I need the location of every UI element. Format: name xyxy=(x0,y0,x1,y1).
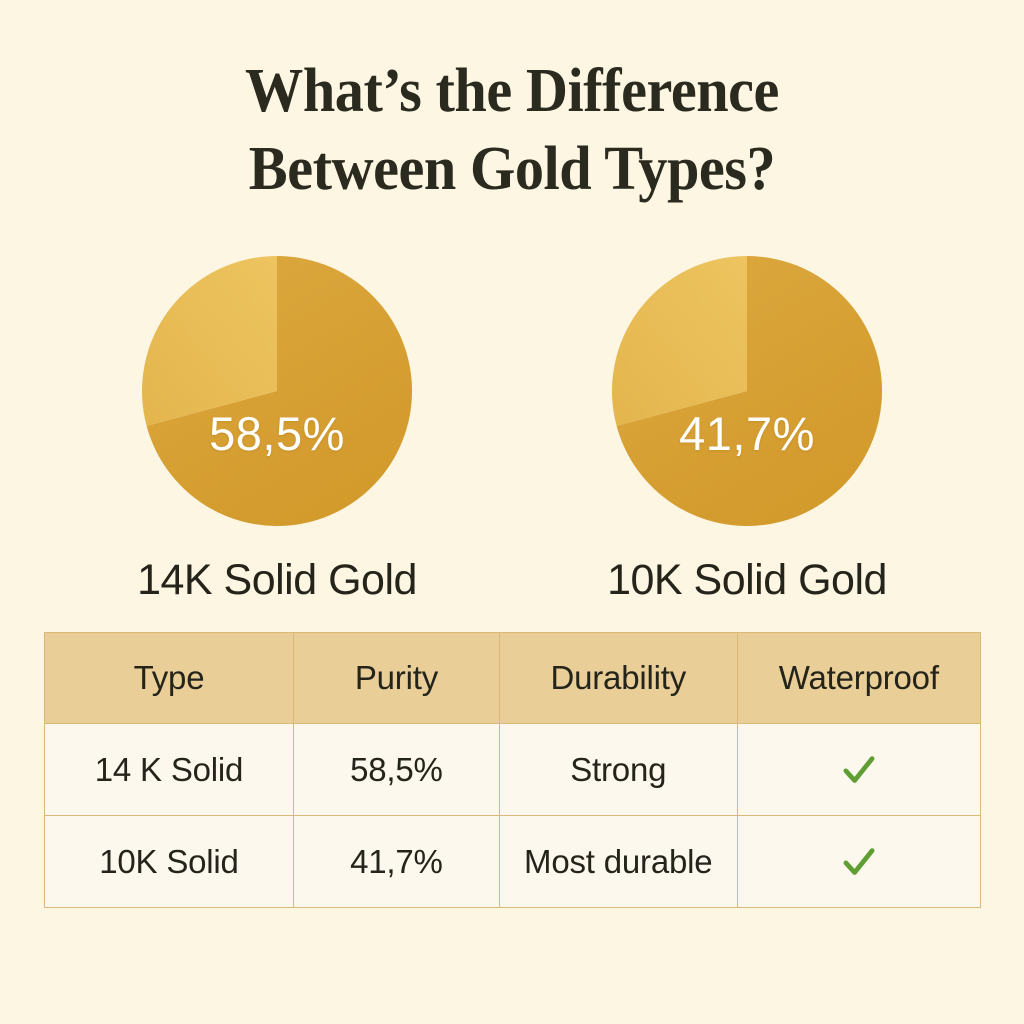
table-row: 10K Solid 41,7% Most durable xyxy=(45,816,981,908)
cell-type: 14 K Solid xyxy=(45,724,294,816)
table-body: 14 K Solid 58,5% Strong 10K Solid 41,7% … xyxy=(45,724,981,908)
pie-chart-14k: 58,5% xyxy=(136,250,418,532)
cell-waterproof xyxy=(737,724,980,816)
cell-purity: 58,5% xyxy=(293,724,499,816)
pie-chart-icon xyxy=(606,250,888,532)
column-header-waterproof: Waterproof xyxy=(737,633,980,724)
title-line-2: Between Gold Types? xyxy=(106,130,918,208)
infographic-page: What’s the Difference Between Gold Types… xyxy=(0,0,1024,1024)
pie-value-label-14k: 58,5% xyxy=(136,406,418,461)
table-header-row: Type Purity Durability Waterproof xyxy=(45,633,981,724)
table-row: 14 K Solid 58,5% Strong xyxy=(45,724,981,816)
page-title: What’s the Difference Between Gold Types… xyxy=(0,52,1024,208)
title-line-1: What’s the Difference xyxy=(106,52,918,130)
column-header-durability: Durability xyxy=(499,633,737,724)
cell-waterproof xyxy=(737,816,980,908)
table-header: Type Purity Durability Waterproof xyxy=(45,633,981,724)
check-icon xyxy=(838,841,880,883)
cell-durability: Most durable xyxy=(499,816,737,908)
chart-cell-10k: 41,7% 10K Solid Gold xyxy=(587,250,907,605)
pie-value-label-10k: 41,7% xyxy=(606,406,888,461)
cell-type: 10K Solid xyxy=(45,816,294,908)
column-header-type: Type xyxy=(45,633,294,724)
chart-cell-14k: 58,5% 14K Solid Gold xyxy=(117,250,437,605)
pie-chart-10k: 41,7% xyxy=(606,250,888,532)
chart-caption-10k: 10K Solid Gold xyxy=(607,556,887,605)
cell-durability: Strong xyxy=(499,724,737,816)
check-icon xyxy=(838,749,880,791)
comparison-table: Type Purity Durability Waterproof 14 K S… xyxy=(44,632,981,908)
chart-caption-14k: 14K Solid Gold xyxy=(137,556,417,605)
column-header-purity: Purity xyxy=(293,633,499,724)
cell-purity: 41,7% xyxy=(293,816,499,908)
gold-types-table: Type Purity Durability Waterproof 14 K S… xyxy=(44,632,981,908)
pie-chart-icon xyxy=(136,250,418,532)
pie-chart-group: 58,5% 14K Solid Gold xyxy=(0,250,1024,605)
